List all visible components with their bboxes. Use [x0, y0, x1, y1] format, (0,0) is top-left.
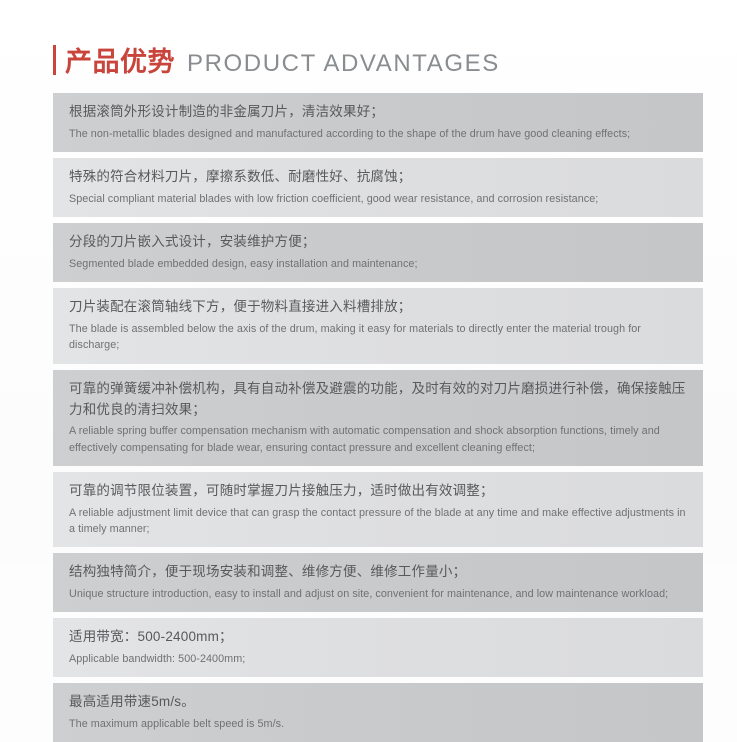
advantage-row: 刀片装配在滚筒轴线下方，便于物料直接进入料槽排放；The blade is as…	[53, 288, 703, 363]
advantage-text-cn: 可靠的调节限位装置，可随时掌握刀片接触压力，适时做出有效调整；	[69, 481, 687, 502]
advantage-text-cn: 最高适用带速5m/s。	[69, 692, 687, 713]
advantage-text-en: Special compliant material blades with l…	[69, 191, 687, 207]
title-accent-bar-icon	[53, 45, 56, 75]
advantage-row: 可靠的弹簧缓冲补偿机构，具有自动补偿及避震的功能，及时有效的对刀片磨损进行补偿，…	[53, 370, 703, 466]
advantage-text-en: Applicable bandwidth: 500-2400mm;	[69, 651, 687, 667]
advantage-text-en: A reliable adjustment limit device that …	[69, 505, 687, 537]
advantage-text-cn: 结构独特简介，便于现场安装和调整、维修方便、维修工作量小；	[69, 562, 687, 583]
page-title-en: PRODUCT ADVANTAGES	[187, 52, 500, 76]
advantage-text-en: The maximum applicable belt speed is 5m/…	[69, 716, 687, 732]
advantage-text-en: Unique structure introduction, easy to i…	[69, 586, 687, 602]
advantage-text-cn: 分段的刀片嵌入式设计，安装维护方便；	[69, 232, 687, 253]
advantage-row: 特殊的符合材料刀片，摩擦系数低、耐磨性好、抗腐蚀；Special complia…	[53, 158, 703, 217]
advantage-text-cn: 适用带宽：500-2400mm；	[69, 627, 687, 648]
advantage-text-cn: 可靠的弹簧缓冲补偿机构，具有自动补偿及避震的功能，及时有效的对刀片磨损进行补偿，…	[69, 379, 687, 421]
advantage-text-cn: 刀片装配在滚筒轴线下方，便于物料直接进入料槽排放；	[69, 297, 687, 318]
advantage-row: 可靠的调节限位装置，可随时掌握刀片接触压力，适时做出有效调整；A reliabl…	[53, 472, 703, 547]
advantage-text-en: Segmented blade embedded design, easy in…	[69, 256, 687, 272]
page-title-cn: 产品优势	[65, 49, 175, 76]
advantage-row: 最高适用带速5m/s。The maximum applicable belt s…	[53, 683, 703, 742]
advantage-row: 适用带宽：500-2400mm；Applicable bandwidth: 50…	[53, 618, 703, 677]
advantage-row: 分段的刀片嵌入式设计，安装维护方便；Segmented blade embedd…	[53, 223, 703, 282]
advantage-row: 根据滚筒外形设计制造的非金属刀片，清洁效果好；The non-metallic …	[53, 93, 703, 152]
advantage-row: 结构独特简介，便于现场安装和调整、维修方便、维修工作量小；Unique stru…	[53, 553, 703, 612]
product-advantages-page: 产品优势 PRODUCT ADVANTAGES 根据滚筒外形设计制造的非金属刀片…	[0, 0, 737, 566]
advantage-text-cn: 根据滚筒外形设计制造的非金属刀片，清洁效果好；	[69, 102, 687, 123]
advantage-text-en: A reliable spring buffer compensation me…	[69, 423, 687, 455]
page-title: 产品优势 PRODUCT ADVANTAGES	[53, 41, 500, 76]
advantage-text-en: The non-metallic blades designed and man…	[69, 126, 687, 142]
advantage-text-cn: 特殊的符合材料刀片，摩擦系数低、耐磨性好、抗腐蚀；	[69, 167, 687, 188]
advantages-list: 根据滚筒外形设计制造的非金属刀片，清洁效果好；The non-metallic …	[53, 93, 703, 742]
advantage-text-en: The blade is assembled below the axis of…	[69, 321, 687, 353]
